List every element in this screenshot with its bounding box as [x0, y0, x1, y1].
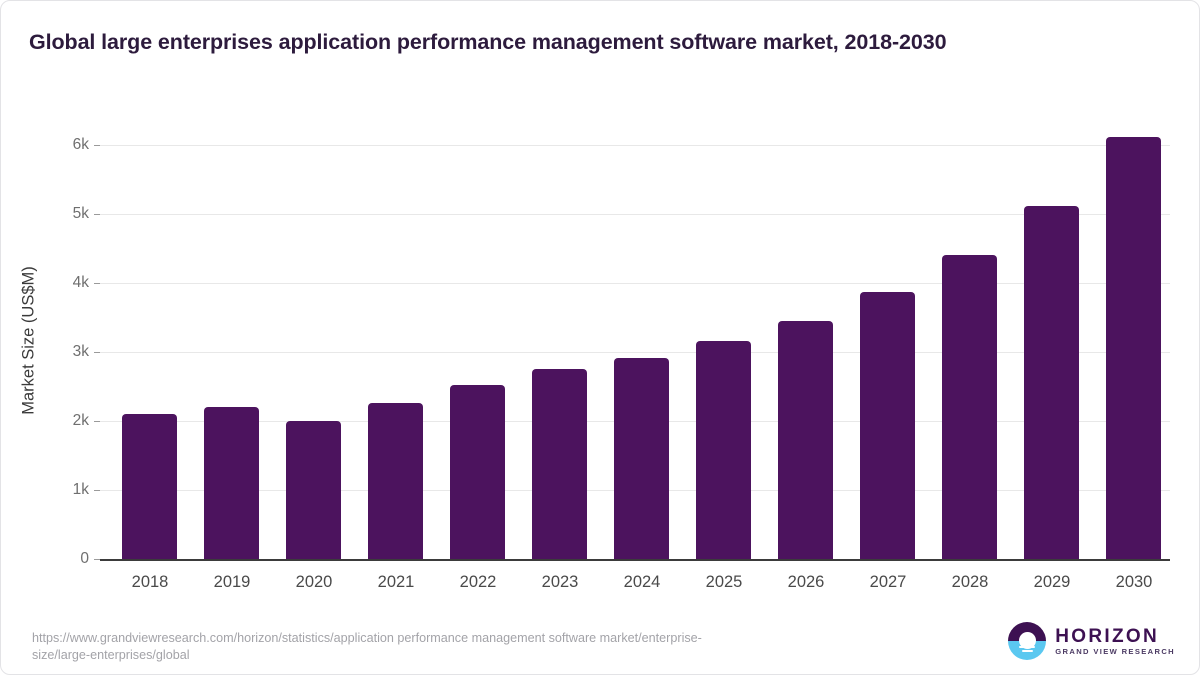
gridline — [100, 214, 1170, 215]
y-axis-tick-mark — [94, 214, 100, 215]
y-axis-tick-label: 1k — [29, 481, 89, 499]
logo-text: HORIZON GRAND VIEW RESEARCH — [1055, 626, 1175, 657]
y-axis-tick-mark — [94, 421, 100, 422]
y-axis-tick-mark — [94, 559, 100, 560]
y-axis-tick-label: 3k — [29, 343, 89, 361]
y-axis-tick-label: 6k — [29, 136, 89, 154]
gridline — [100, 283, 1170, 284]
sun-ray-icon — [1019, 646, 1035, 648]
bar[interactable] — [614, 358, 669, 560]
plot-area — [100, 111, 1170, 560]
x-axis-tick-label: 2024 — [601, 573, 683, 592]
horizon-logo-icon — [1008, 622, 1046, 660]
bar[interactable] — [942, 255, 997, 560]
x-axis-tick-label: 2022 — [437, 573, 519, 592]
gridline — [100, 352, 1170, 353]
logo-tagline: GRAND VIEW RESEARCH — [1055, 647, 1175, 657]
page-title: Global large enterprises application per… — [29, 30, 946, 55]
y-axis-tick-label: 0 — [29, 550, 89, 568]
bar[interactable] — [450, 385, 505, 560]
bar[interactable] — [122, 414, 177, 560]
horizon-logo: HORIZON GRAND VIEW RESEARCH — [1008, 619, 1175, 663]
y-axis-tick-mark — [94, 490, 100, 491]
gridline — [100, 145, 1170, 146]
y-axis-ticks: 01k2k3k4k5k6k — [21, 1, 89, 675]
bar[interactable] — [1106, 137, 1161, 560]
x-axis-tick-label: 2030 — [1093, 573, 1175, 592]
chart-card: Global large enterprises application per… — [0, 0, 1200, 675]
x-axis-line — [100, 559, 1170, 561]
bar[interactable] — [1024, 206, 1079, 560]
y-axis-tick-label: 2k — [29, 412, 89, 430]
bar[interactable] — [204, 407, 259, 560]
y-axis-tick-label: 4k — [29, 274, 89, 292]
x-axis-tick-label: 2018 — [109, 573, 191, 592]
bar[interactable] — [696, 341, 751, 560]
bar[interactable] — [860, 292, 915, 560]
x-axis-tick-label: 2028 — [929, 573, 1011, 592]
x-axis-tick-label: 2021 — [355, 573, 437, 592]
bar[interactable] — [286, 421, 341, 560]
x-axis-tick-label: 2027 — [847, 573, 929, 592]
bar[interactable] — [532, 369, 587, 560]
x-axis-tick-label: 2025 — [683, 573, 765, 592]
y-axis-tick-label: 5k — [29, 205, 89, 223]
x-axis-tick-label: 2029 — [1011, 573, 1093, 592]
x-axis-tick-label: 2020 — [273, 573, 355, 592]
y-axis-tick-mark — [94, 352, 100, 353]
y-axis-tick-mark — [94, 145, 100, 146]
logo-wordmark: HORIZON — [1055, 626, 1175, 647]
bar[interactable] — [368, 403, 423, 560]
sun-ray-icon — [1022, 650, 1033, 652]
x-axis-tick-label: 2026 — [765, 573, 847, 592]
bar[interactable] — [778, 321, 833, 560]
y-axis-tick-mark — [94, 283, 100, 284]
x-axis-tick-label: 2023 — [519, 573, 601, 592]
source-url[interactable]: https://www.grandviewresearch.com/horizo… — [32, 630, 752, 664]
x-axis-tick-label: 2019 — [191, 573, 273, 592]
